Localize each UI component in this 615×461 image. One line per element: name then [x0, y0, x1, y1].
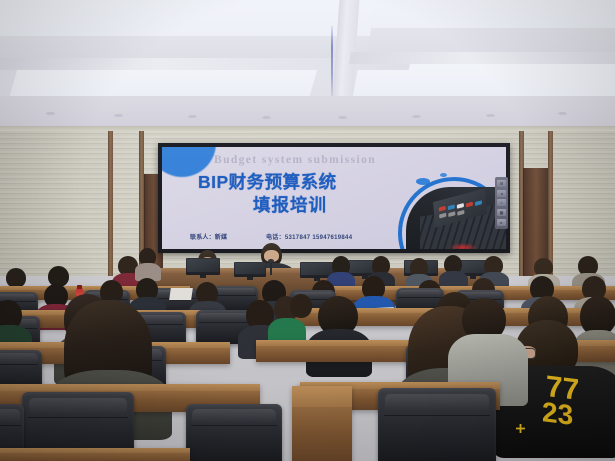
- wall-cornice: [0, 126, 615, 131]
- downlight: [412, 115, 421, 118]
- display-side-toolbar[interactable]: ☰ ◂ ⌂ ▦ ▸: [495, 177, 508, 229]
- chair-front-3[interactable]: [378, 388, 496, 461]
- wood-trim-strip: [108, 126, 113, 276]
- front-desk-left-sliver: [0, 448, 190, 461]
- led-display[interactable]: Budget system submission BIP财务预算系统 填报培训: [158, 143, 510, 253]
- ceiling: [0, 0, 615, 140]
- home-icon[interactable]: ⌂: [497, 199, 506, 206]
- next-icon[interactable]: ▸: [497, 219, 506, 226]
- wood-trim-strip: [548, 126, 553, 276]
- apps-icon[interactable]: ▦: [497, 209, 506, 216]
- rostrum-monitor-1[interactable]: [186, 258, 220, 275]
- mouse-led-glow: [448, 243, 478, 249]
- front-desk-right-edge: [292, 386, 352, 461]
- downlight: [114, 114, 123, 117]
- slide-title-line2: 填报培训: [253, 192, 327, 217]
- slide-contact-name: 联系人：新媒: [190, 232, 227, 241]
- downlight: [338, 116, 347, 119]
- downlight: [262, 116, 271, 119]
- slide-subtitle: Budget system submission: [214, 154, 376, 166]
- paper-sheet[interactable]: [169, 288, 193, 300]
- slide-contact-phone: 电话：5317847 15947619844: [266, 232, 352, 241]
- rostrum-microphone: [270, 262, 272, 275]
- slide-photo-circle: [398, 177, 506, 249]
- menu-icon[interactable]: ☰: [497, 180, 506, 187]
- slide-title-line1: BIP财务预算系统: [198, 169, 337, 194]
- rostrum-monitor-2[interactable]: [234, 262, 266, 277]
- downlight: [188, 115, 197, 118]
- ceiling-beam-horizontal-right: [349, 52, 615, 64]
- downlight: [486, 114, 495, 117]
- downlight: [46, 112, 55, 115]
- chair-front-2[interactable]: [186, 404, 282, 461]
- back-icon[interactable]: ◂: [497, 190, 506, 197]
- shirt-number-bottom: 23: [542, 398, 573, 430]
- slide-photo-keyboard-calculator: [406, 187, 506, 249]
- hanging-rod: [331, 26, 333, 96]
- presentation-slide: Budget system submission BIP财务预算系统 填报培训: [162, 147, 506, 249]
- downlight: [558, 112, 567, 115]
- rostrum-microphone-head: [268, 259, 274, 263]
- conference-room-photo: Budget system submission BIP财务预算系统 填报培训: [0, 0, 615, 461]
